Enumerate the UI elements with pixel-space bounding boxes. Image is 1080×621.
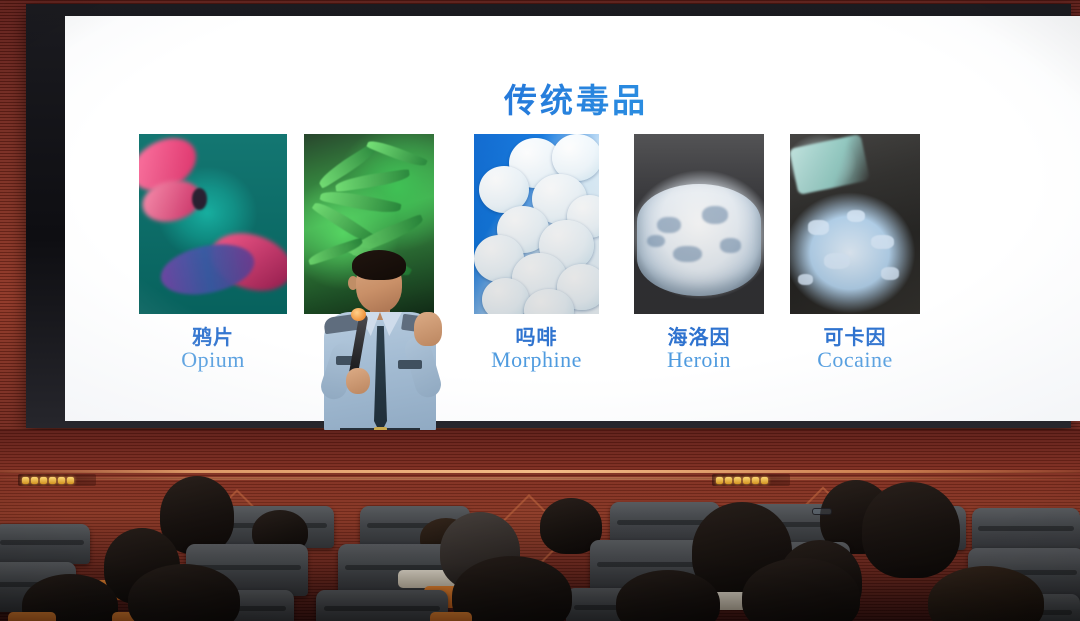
- slide-item-cocaine: 可卡因 Cocaine: [790, 134, 920, 373]
- auditorium-seat: [316, 590, 448, 621]
- heroin-caption-zh: 海洛因: [634, 326, 764, 348]
- slide-item-heroin: 海洛因 Heroin: [634, 134, 764, 373]
- opium-caption: 鸦片 Opium: [139, 326, 287, 373]
- morphine-caption-en: Morphine: [474, 348, 599, 373]
- opium-caption-en: Opium: [139, 348, 287, 373]
- cocaine-caption: 可卡因 Cocaine: [790, 326, 920, 373]
- opium-caption-zh: 鸦片: [139, 326, 287, 348]
- morphine-image: [474, 134, 599, 314]
- morphine-caption-zh: 吗啡: [474, 326, 599, 348]
- cocaine-caption-en: Cocaine: [790, 348, 920, 373]
- presenter-right-hand: [414, 312, 442, 346]
- slide-item-opium: 鸦片 Opium: [139, 134, 287, 373]
- slide-title: 传统毒品: [65, 74, 1080, 122]
- heroin-caption-en: Heroin: [634, 348, 764, 373]
- auditorium-seat: [0, 524, 90, 564]
- auditorium-seat: [972, 508, 1080, 552]
- cocaine-image: [790, 134, 920, 314]
- morphine-caption: 吗啡 Morphine: [474, 326, 599, 373]
- heroin-image: [634, 134, 764, 314]
- lecture-hall-room: 传统毒品 鸦片 Opium: [0, 0, 1080, 621]
- cocaine-caption-zh: 可卡因: [790, 326, 920, 348]
- presenter-hair: [352, 250, 406, 280]
- slide-image-row: 鸦片 Opium 大麻 Cannabis: [104, 134, 1048, 379]
- heroin-caption: 海洛因 Heroin: [634, 326, 764, 373]
- audience-head: [862, 482, 960, 578]
- audience-area: [0, 470, 1080, 621]
- projection-screen: 传统毒品 鸦片 Opium: [65, 16, 1080, 421]
- slide-item-morphine: 吗啡 Morphine: [474, 134, 599, 373]
- presenter-badge-right: [398, 360, 422, 369]
- audience-collar: [430, 612, 472, 621]
- microphone-light: [351, 308, 366, 321]
- audience-collar: [8, 612, 56, 621]
- opium-image: [139, 134, 287, 314]
- audience-glasses: [812, 508, 832, 515]
- presenter-left-hand: [346, 368, 370, 394]
- projection-screen-bezel: 传统毒品 鸦片 Opium: [26, 4, 1071, 428]
